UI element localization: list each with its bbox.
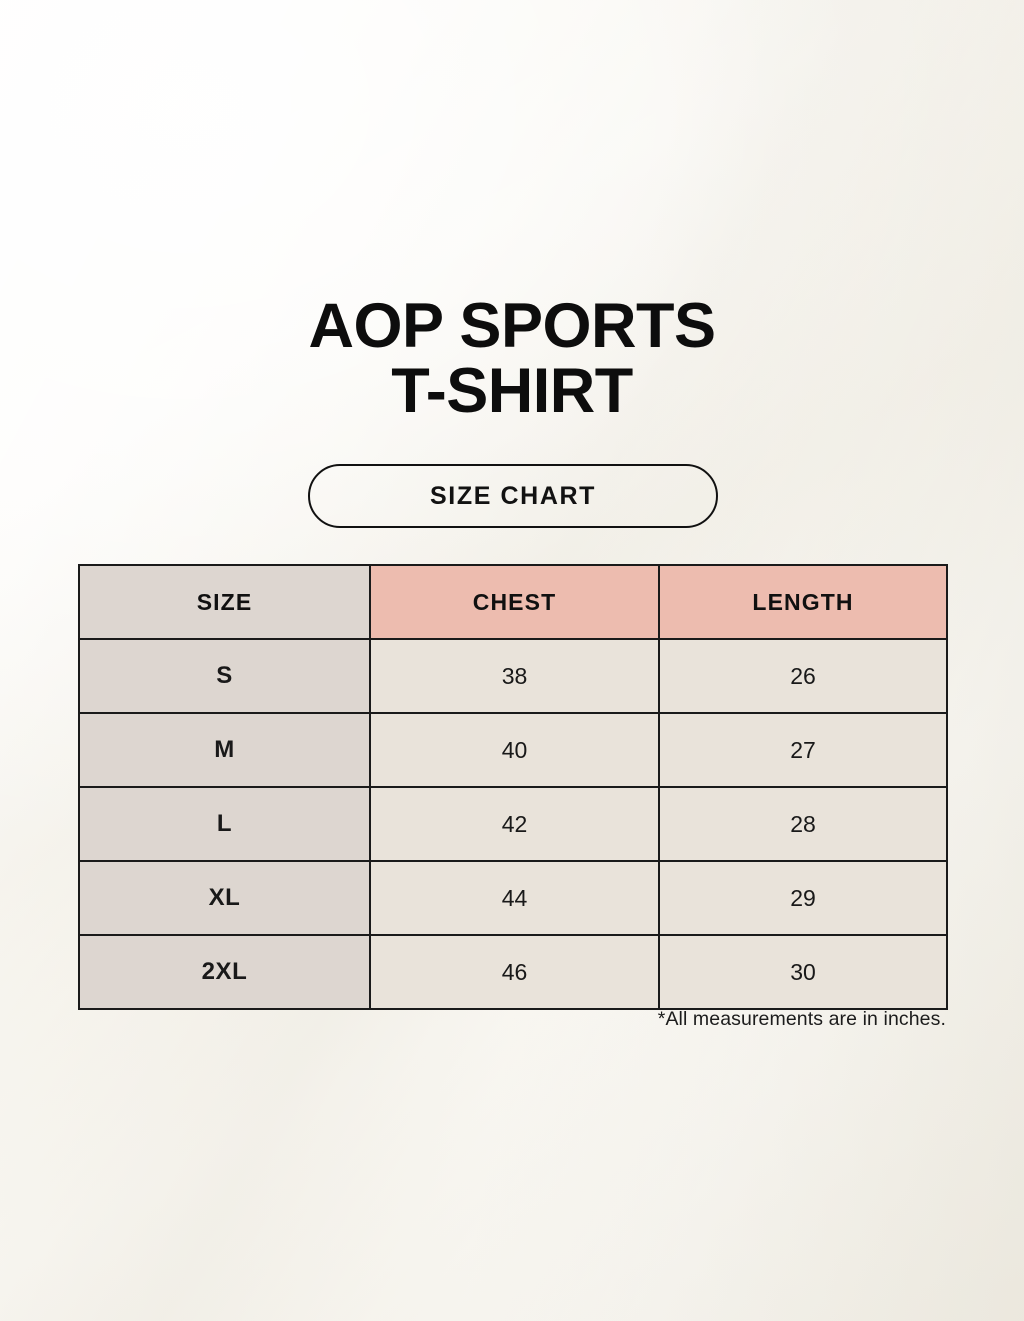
measurement-note: *All measurements are in inches. xyxy=(78,1008,946,1031)
table-row: L 42 28 xyxy=(79,787,947,861)
cell-size: S xyxy=(79,639,370,713)
table-row: XL 44 29 xyxy=(79,861,947,935)
cell-length: 29 xyxy=(659,861,947,935)
size-chart-badge: SIZE CHART xyxy=(308,464,718,528)
page-title-line-2: T-SHIRT xyxy=(0,359,1024,424)
cell-length: 30 xyxy=(659,935,947,1009)
cell-length: 26 xyxy=(659,639,947,713)
table-row: 2XL 46 30 xyxy=(79,935,947,1009)
page-title: AOP SPORTS T-SHIRT xyxy=(0,294,1024,424)
cell-chest: 44 xyxy=(370,861,659,935)
table-row: S 38 26 xyxy=(79,639,947,713)
cell-chest: 46 xyxy=(370,935,659,1009)
column-header-length: LENGTH xyxy=(659,565,947,639)
cell-chest: 40 xyxy=(370,713,659,787)
size-chart-table: SIZE CHEST LENGTH S 38 26 M 40 27 L xyxy=(78,564,948,1010)
cell-size: 2XL xyxy=(79,935,370,1009)
page-title-line-1: AOP SPORTS xyxy=(0,294,1024,359)
cell-length: 27 xyxy=(659,713,947,787)
size-chart-badge-label: SIZE CHART xyxy=(430,482,596,511)
cell-size: XL xyxy=(79,861,370,935)
column-header-size: SIZE xyxy=(79,565,370,639)
cell-size: M xyxy=(79,713,370,787)
table-row: M 40 27 xyxy=(79,713,947,787)
column-header-chest: CHEST xyxy=(370,565,659,639)
table-header-row: SIZE CHEST LENGTH xyxy=(79,565,947,639)
cell-size: L xyxy=(79,787,370,861)
size-chart-poster: AOP SPORTS T-SHIRT SIZE CHART SIZE CHEST… xyxy=(0,0,1024,1321)
cell-chest: 42 xyxy=(370,787,659,861)
cell-length: 28 xyxy=(659,787,947,861)
cell-chest: 38 xyxy=(370,639,659,713)
size-chart-table-wrap: SIZE CHEST LENGTH S 38 26 M 40 27 L xyxy=(78,564,946,1010)
